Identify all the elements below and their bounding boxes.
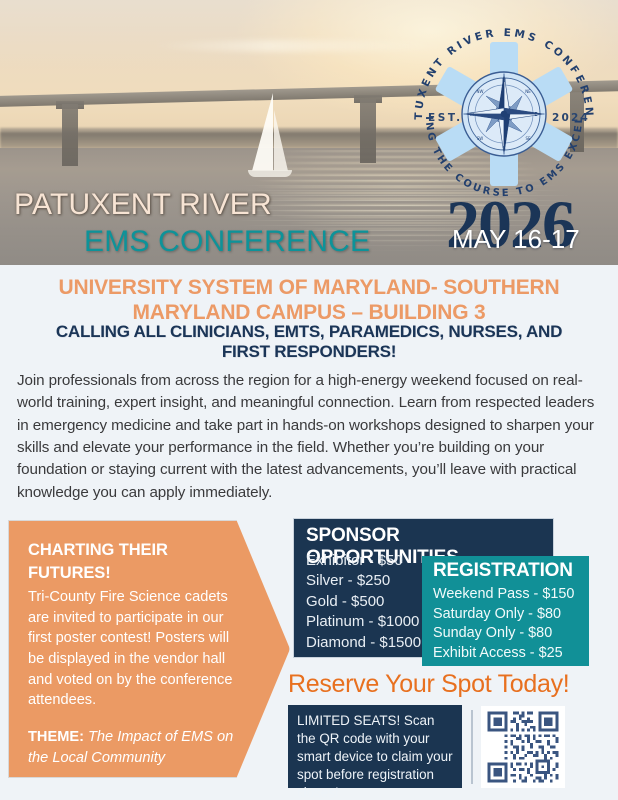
venue-heading: UNIVERSITY SYSTEM OF MARYLAND- SOUTHERN … xyxy=(18,276,600,325)
registration-option-item: Sunday Only - $80 xyxy=(433,624,574,644)
poster-contest-description: Tri-County Fire Science cadets are invit… xyxy=(28,589,232,709)
sponsor-tier-item: Diamond - $1500 xyxy=(306,633,421,653)
svg-text:NE: NE xyxy=(525,89,531,94)
poster-contest-callout: CHARTING THEIR FUTURES! Tri-County Fire … xyxy=(8,520,290,778)
body-paragraph: Join professionals from across the regio… xyxy=(17,370,603,504)
logo-est-label: EST. xyxy=(428,112,463,124)
reserve-spot-headline: Reserve Your Spot Today! xyxy=(288,670,569,699)
compass-rose-icon: N E S W NE SE SW NW xyxy=(462,72,546,156)
registration-box: REGISTRATION Weekend Pass - $150 Saturda… xyxy=(422,556,589,666)
svg-text:W: W xyxy=(470,112,475,118)
sponsor-tier-item: Silver - $250 xyxy=(306,571,421,591)
qr-code[interactable] xyxy=(481,706,565,788)
conference-logo-badge: N E S W NE SE SW NW PATUXENT RIVER EMS C… xyxy=(404,14,604,214)
registration-option-item: Saturday Only - $80 xyxy=(433,605,574,625)
svg-text:S: S xyxy=(502,146,505,152)
flyer-title-line1: PATUXENT RIVER xyxy=(14,188,272,222)
theme-label: THEME: xyxy=(28,729,84,745)
flyer-title-line2: EMS CONFERENCE xyxy=(84,225,370,259)
registration-option-item: Exhibit Access - $25 xyxy=(433,644,574,664)
event-dates: MAY 16-17 xyxy=(452,224,580,255)
svg-text:SW: SW xyxy=(477,136,484,141)
poster-contest-title: CHARTING THEIR FUTURES! xyxy=(28,539,242,586)
poster-contest-content: CHARTING THEIR FUTURES! Tri-County Fire … xyxy=(28,539,242,769)
registration-title: REGISTRATION xyxy=(433,560,573,582)
svg-text:SE: SE xyxy=(525,136,531,141)
limited-seats-box: LIMITED SEATS! Scan the QR code with you… xyxy=(288,705,462,788)
conference-flyer: N E S W NE SE SW NW PATUXENT RIVER EMS C… xyxy=(0,0,618,800)
registration-option-list: Weekend Pass - $150 Saturday Only - $80 … xyxy=(433,585,574,663)
registration-option-item: Weekend Pass - $150 xyxy=(433,585,574,605)
sponsor-tier-item: Exhibitor - $50 xyxy=(306,551,421,571)
svg-text:NW: NW xyxy=(477,89,484,94)
logo-est-year: 2024 xyxy=(552,112,590,124)
sponsor-tier-item: Platinum - $1000 xyxy=(306,612,421,632)
svg-text:E: E xyxy=(534,112,537,118)
audience-heading: CALLING ALL CLINICIANS, EMTS, PARAMEDICS… xyxy=(20,322,598,362)
qr-divider xyxy=(471,710,473,784)
poster-contest-theme: THEME: The Impact of EMS on the Local Co… xyxy=(28,727,242,768)
calling-line-1: CALLING ALL CLINICIANS, EMTS, PARAMEDICS… xyxy=(20,322,598,342)
calling-line-2: FIRST RESPONDERS! xyxy=(20,342,598,362)
svg-text:N: N xyxy=(502,78,506,84)
sponsor-tier-list: Exhibitor - $50 Silver - $250 Gold - $50… xyxy=(306,551,421,653)
sponsor-tier-item: Gold - $500 xyxy=(306,592,421,612)
limited-seats-text: LIMITED SEATS! Scan the QR code with you… xyxy=(297,712,455,800)
venue-line-1: UNIVERSITY SYSTEM OF MARYLAND- SOUTHERN xyxy=(18,276,600,301)
